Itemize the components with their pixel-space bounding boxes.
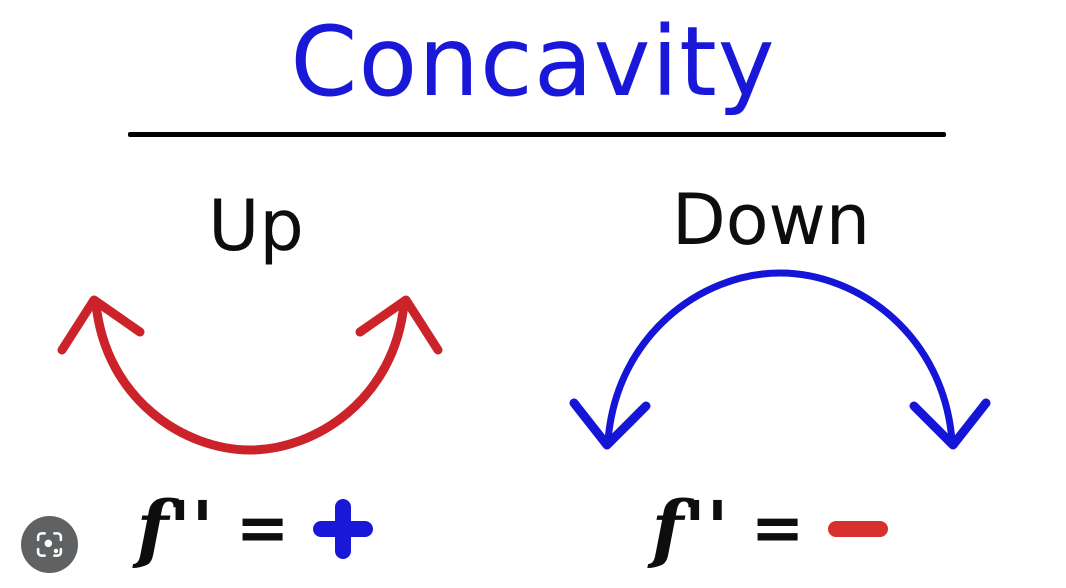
google-lens-button[interactable]	[21, 516, 78, 573]
title-divider	[128, 132, 946, 137]
minus-sign-icon	[826, 497, 890, 561]
concave-up-arrow-svg	[40, 270, 460, 470]
plus-sign-icon	[311, 497, 375, 561]
concave-down-arrow-svg	[560, 255, 1000, 455]
concave-down-arrow	[560, 255, 1000, 455]
second-derivative-symbol-down: f''	[652, 486, 729, 572]
google-lens-camera-icon	[34, 529, 65, 560]
concave-up-arrow	[40, 270, 460, 470]
formula-concave-up: f'' =	[0, 486, 512, 572]
concave-down-curve	[608, 273, 952, 441]
page-title: Concavity	[0, 2, 1066, 122]
concave-up-curve	[96, 304, 404, 450]
plus-sign	[311, 497, 375, 561]
concavity-infographic: Concavity Up f'' = Down	[0, 0, 1066, 588]
column-heading-down: Down	[556, 180, 986, 260]
equals-sign-down: =	[751, 486, 805, 572]
column-heading-up: Up	[0, 186, 512, 266]
formula-concave-down: f'' =	[556, 486, 986, 572]
equals-sign-up: =	[236, 486, 290, 572]
minus-sign	[826, 497, 890, 561]
second-derivative-symbol-up: f''	[137, 486, 214, 572]
